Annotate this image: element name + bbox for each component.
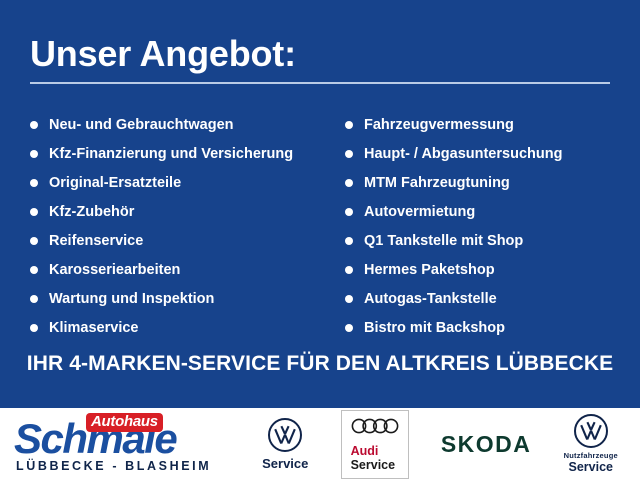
offer-label: Kfz-Zubehör — [49, 203, 134, 221]
bullet-dot-icon — [345, 266, 353, 274]
bullet-dot-icon — [30, 266, 38, 274]
offer-label: Hermes Paketshop — [364, 261, 495, 279]
offer-label: Klimaservice — [49, 319, 138, 337]
bullet-dot-icon — [345, 324, 353, 332]
bullet-dot-icon — [30, 150, 38, 158]
brand-skoda: SKODA — [441, 431, 532, 457]
dealer-logo: Schmale Autohaus LÜBBECKE - BLASHEIM — [14, 411, 236, 477]
list-item: Reifenservice — [30, 226, 320, 255]
list-item: Kfz-Zubehör — [30, 197, 320, 226]
audi-service-label: Service — [351, 458, 395, 472]
offer-label: Wartung und Inspektion — [49, 290, 214, 308]
offer-label: Haupt- / Abgasuntersuchung — [364, 145, 562, 163]
skoda-wordmark-icon: SKODA — [441, 431, 532, 457]
audi-brand-label: Audi — [351, 444, 379, 458]
bullet-dot-icon — [345, 295, 353, 303]
list-item: Kfz-Finanzierung und Versicherung — [30, 139, 320, 168]
list-item: Autovermietung — [345, 197, 640, 226]
bullet-dot-icon — [30, 324, 38, 332]
list-item: Original-Ersatzteile — [30, 168, 320, 197]
header-divider — [30, 82, 610, 84]
list-item: Autogas-Tankstelle — [345, 284, 640, 313]
offer-label: Bistro mit Backshop — [364, 319, 505, 337]
brand-vw-service: Service — [262, 418, 308, 471]
bullet-dot-icon — [345, 179, 353, 187]
bullet-dot-icon — [30, 179, 38, 187]
brand-label: Service — [262, 456, 308, 471]
bullet-dot-icon — [345, 237, 353, 245]
offer-label: Reifenservice — [49, 232, 143, 250]
list-item: MTM Fahrzeugtuning — [345, 168, 640, 197]
offer-label: Autovermietung — [364, 203, 475, 221]
offer-label: Neu- und Gebrauchtwagen — [49, 116, 234, 134]
list-item: Neu- und Gebrauchtwagen — [30, 110, 320, 139]
list-item: Fahrzeugvermessung — [345, 110, 640, 139]
brand-vw-nutzfahrzeuge-service: Nutzfahrzeuge Service — [564, 414, 618, 474]
audi-rings-icon — [351, 418, 399, 439]
bullet-dot-icon — [345, 208, 353, 216]
footer: Schmale Autohaus LÜBBECKE - BLASHEIM — [0, 408, 640, 480]
offer-label: Q1 Tankstelle mit Shop — [364, 232, 523, 250]
list-item: Q1 Tankstelle mit Shop — [345, 226, 640, 255]
bullet-dot-icon — [345, 150, 353, 158]
dealer-badge: Autohaus — [86, 413, 163, 432]
offer-poster: Unser Angebot: Neu- und Gebrauchtwagen K… — [0, 0, 640, 480]
header: Unser Angebot: — [30, 32, 610, 84]
tagline: IHR 4-MARKEN-SERVICE FÜR DEN ALTKREIS LÜ… — [0, 352, 640, 376]
vw-logo-icon — [268, 418, 302, 452]
offer-column-left: Neu- und Gebrauchtwagen Kfz-Finanzierung… — [0, 110, 320, 342]
offer-label: Autogas-Tankstelle — [364, 290, 497, 308]
offer-list-section: Neu- und Gebrauchtwagen Kfz-Finanzierung… — [0, 110, 640, 342]
list-item: Wartung und Inspektion — [30, 284, 320, 313]
brand-logo-row: Service Audi — [236, 408, 640, 480]
list-item: Haupt- / Abgasuntersuchung — [345, 139, 640, 168]
list-item: Bistro mit Backshop — [345, 313, 640, 342]
dealer-locations: LÜBBECKE - BLASHEIM — [16, 459, 211, 473]
brand-sublabel: Nutzfahrzeuge — [564, 451, 618, 460]
offer-label: Kfz-Finanzierung und Versicherung — [49, 145, 293, 163]
list-item: Hermes Paketshop — [345, 255, 640, 284]
list-item: Klimaservice — [30, 313, 320, 342]
brand-audi-service: Audi Service — [341, 410, 409, 479]
offer-column-right: Fahrzeugvermessung Haupt- / Abgasuntersu… — [320, 110, 640, 342]
bullet-dot-icon — [30, 121, 38, 129]
audi-logo-box: Audi Service — [341, 410, 409, 479]
bullet-dot-icon — [30, 295, 38, 303]
offer-label: Karosseriearbeiten — [49, 261, 180, 279]
brand-label: Service — [568, 460, 612, 474]
list-item: Karosseriearbeiten — [30, 255, 320, 284]
vw-logo-icon — [574, 414, 608, 448]
offer-label: Original-Ersatzteile — [49, 174, 181, 192]
page-title: Unser Angebot: — [30, 32, 610, 76]
bullet-dot-icon — [345, 121, 353, 129]
bullet-dot-icon — [30, 208, 38, 216]
offer-label: MTM Fahrzeugtuning — [364, 174, 510, 192]
offer-label: Fahrzeugvermessung — [364, 116, 514, 134]
bullet-dot-icon — [30, 237, 38, 245]
